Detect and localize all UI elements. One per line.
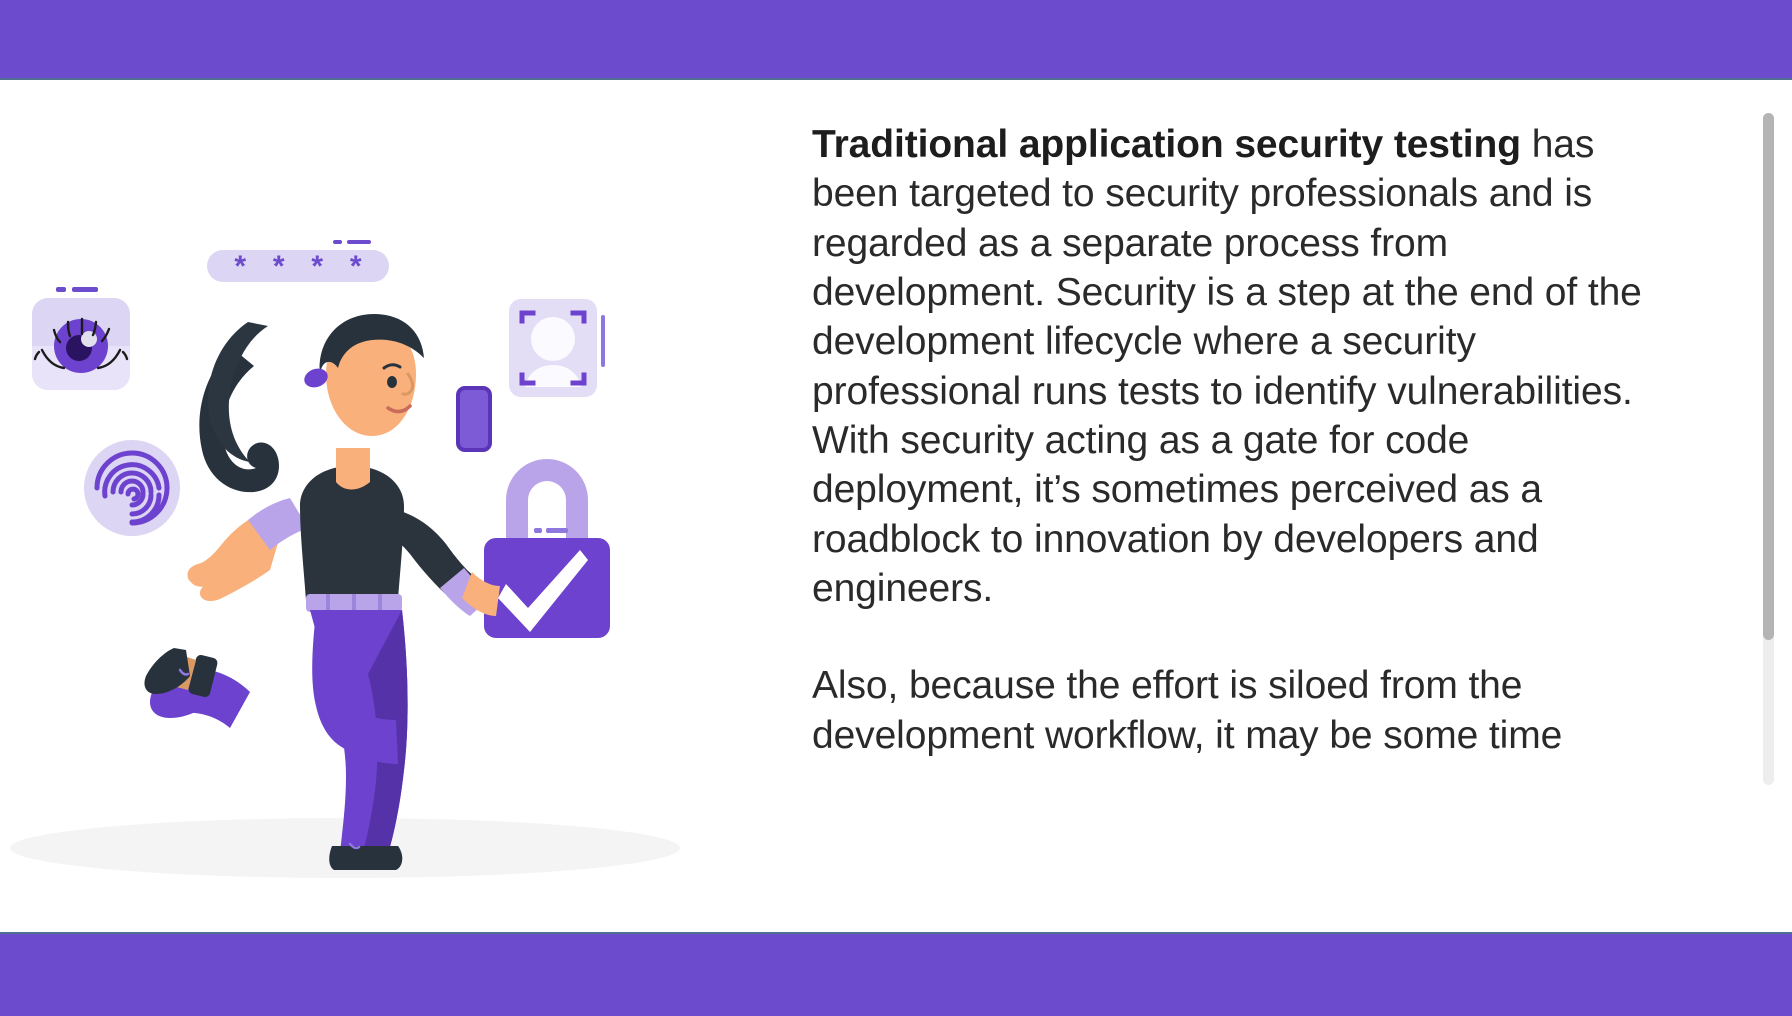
- eye-scan-dash-icon: [56, 287, 66, 292]
- app-viewport: * * * *: [0, 0, 1792, 1014]
- eye-scan-icon: [32, 298, 130, 390]
- paragraph-1-body: has been targeted to security profession…: [812, 123, 1642, 610]
- top-chrome-bar: [0, 0, 1792, 80]
- text-pane: Traditional application security testing…: [800, 80, 1792, 932]
- eye-scan-dash2-icon: [72, 287, 98, 292]
- face-scan-tick-icon: [601, 315, 605, 367]
- lead-bold-phrase: Traditional application security testing: [812, 123, 1521, 166]
- illustration-pane: * * * *: [0, 80, 800, 932]
- vertical-scrollbar[interactable]: [1763, 113, 1774, 785]
- security-illustration: * * * *: [0, 80, 800, 932]
- paragraph-1: Traditional application security testing…: [812, 120, 1672, 613]
- bottom-chrome-bar: [0, 932, 1792, 1016]
- person-illustration: [140, 270, 540, 860]
- paragraph-2: Also, because the effort is siloed from …: [812, 661, 1672, 760]
- content-area: * * * *: [0, 80, 1792, 932]
- password-dash2-icon: [347, 240, 371, 244]
- password-dash-icon: [333, 240, 342, 244]
- scrollbar-thumb[interactable]: [1763, 113, 1774, 640]
